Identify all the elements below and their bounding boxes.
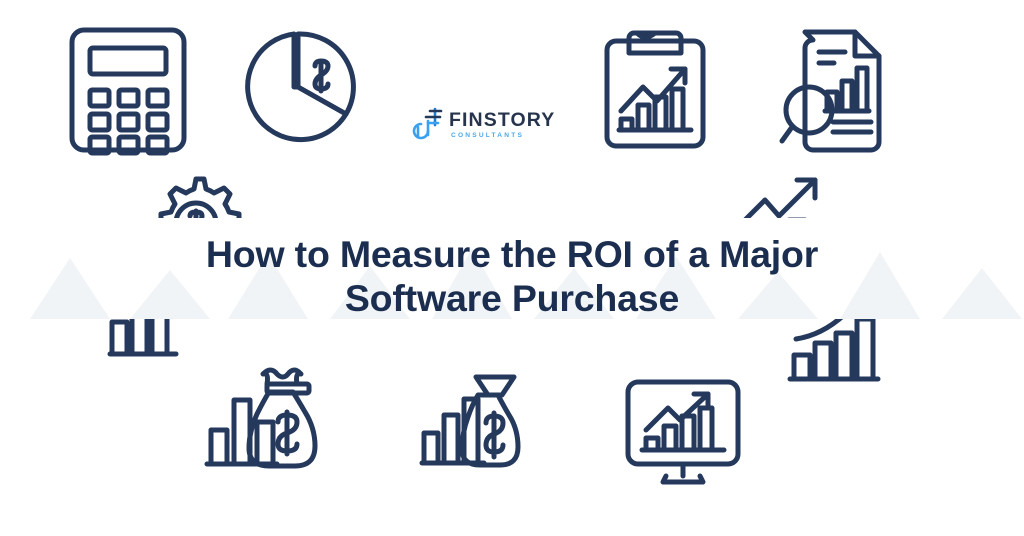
bar-chart-trend-icon bbox=[788, 313, 880, 385]
blog-header-banner: FINSTORY CONSULTANTS How to Measure the … bbox=[0, 0, 1024, 536]
money-bag-chart-icon bbox=[205, 372, 327, 472]
page-title: How to Measure the ROI of a Major Softwa… bbox=[0, 218, 1024, 320]
calculator-icon bbox=[58, 24, 198, 156]
logo-subtitle: CONSULTANTS bbox=[449, 130, 555, 141]
money-bag-bars-icon bbox=[420, 371, 532, 471]
title-overlay-band: How to Measure the ROI of a Major Softwa… bbox=[0, 218, 1024, 319]
pie-chart-dollar-icon bbox=[243, 28, 353, 146]
logo-name: FINSTORY bbox=[449, 110, 555, 130]
monitor-chart-icon bbox=[624, 378, 742, 486]
finstory-logo[interactable]: FINSTORY CONSULTANTS bbox=[414, 98, 546, 150]
finstory-bar-mark-icon bbox=[414, 107, 444, 141]
document-magnifier-icon bbox=[781, 26, 893, 154]
clipboard-chart-icon bbox=[601, 27, 709, 152]
logo-wordmark: FINSTORY CONSULTANTS bbox=[449, 108, 555, 141]
